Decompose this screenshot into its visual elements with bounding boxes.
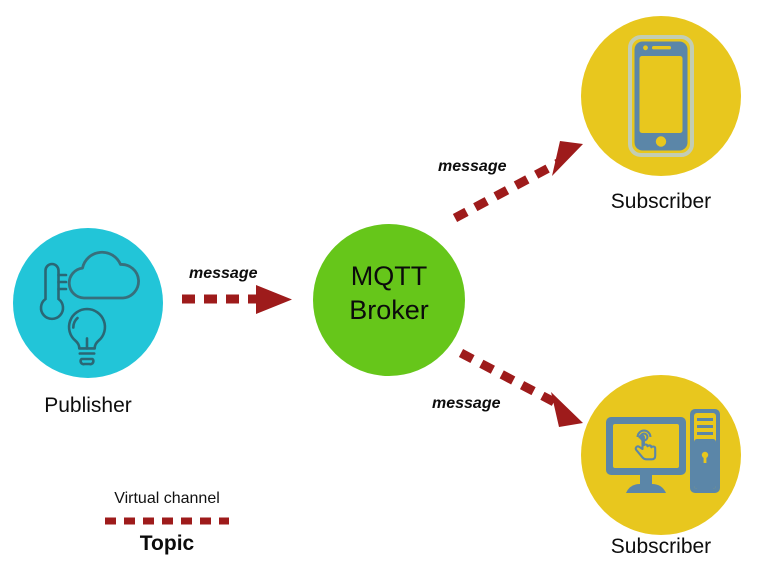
legend-title: Topic	[67, 532, 267, 556]
legend: Virtual channel Topic	[67, 490, 267, 565]
legend-caption: Virtual channel	[67, 490, 267, 508]
broker-label-line2: Broker	[309, 294, 469, 328]
arrow-broker-to-subscriber-bottom	[461, 353, 583, 427]
desktop-computer-icon	[604, 407, 722, 503]
mqtt-architecture-diagram: Publisher MQTT Broker Subscriber	[0, 0, 757, 578]
arrow-publisher-to-broker	[182, 285, 292, 314]
subscriber-bottom-label: Subscriber	[531, 535, 757, 558]
message-label-publisher-to-broker: message	[189, 265, 258, 283]
cloud-icon	[65, 250, 143, 304]
subscriber-bottom-node[interactable]	[581, 375, 741, 535]
message-label-broker-to-subscriber-bottom: message	[432, 395, 501, 413]
smartphone-icon	[628, 35, 694, 157]
publisher-node[interactable]	[13, 228, 163, 378]
lightbulb-icon	[61, 304, 113, 372]
subscriber-top-label: Subscriber	[531, 190, 757, 213]
message-label-broker-to-subscriber-top: message	[438, 158, 507, 176]
legend-dashed-line	[67, 514, 267, 528]
broker-label: MQTT Broker	[309, 260, 469, 328]
broker-label-line1: MQTT	[309, 260, 469, 294]
broker-node[interactable]: MQTT Broker	[313, 224, 465, 376]
subscriber-top-node[interactable]	[581, 16, 741, 176]
publisher-label: Publisher	[0, 394, 218, 417]
